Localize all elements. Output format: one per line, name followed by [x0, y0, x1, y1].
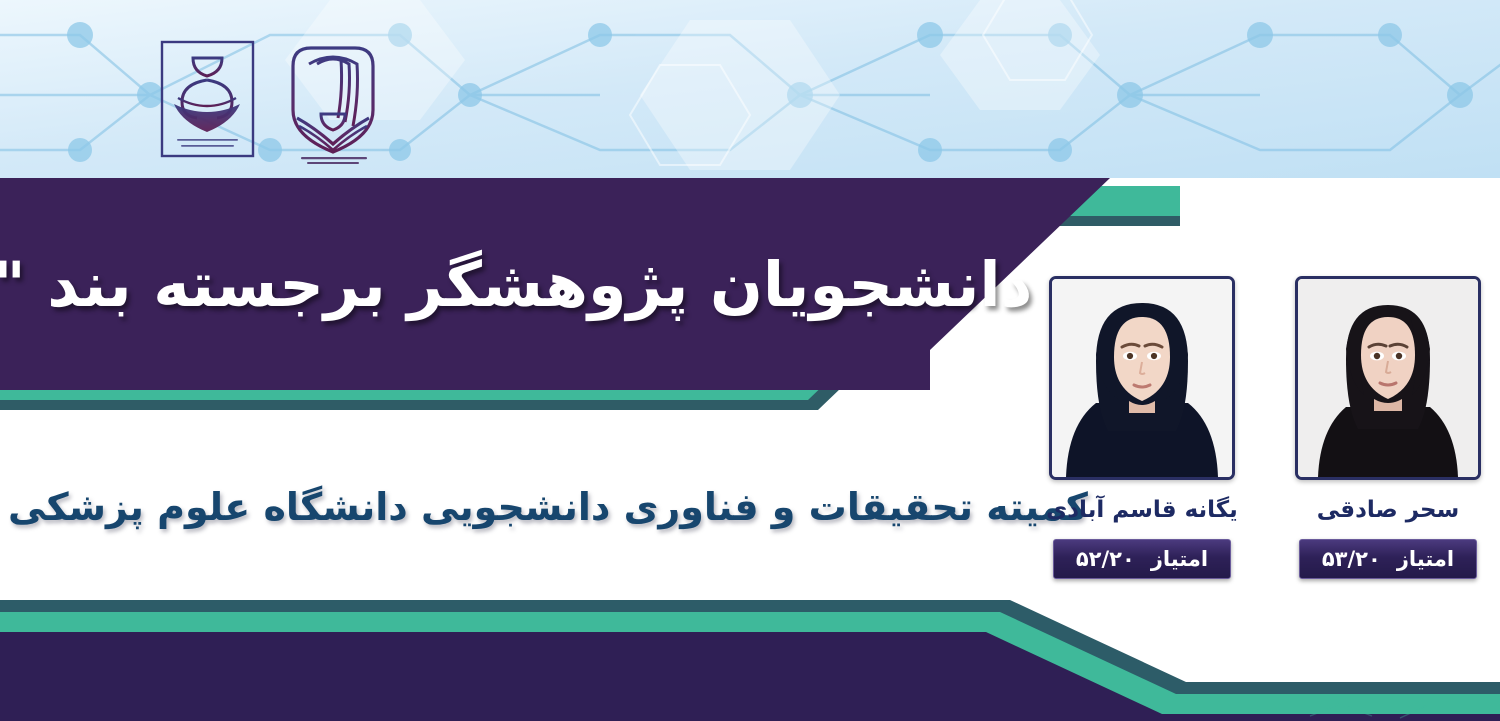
logo-group — [160, 40, 386, 168]
hero-banner — [0, 178, 1180, 458]
avatar — [1049, 276, 1235, 480]
subtitle-row: کمیته تحقیقات و فناوری دانشجویی دانشگاه … — [0, 472, 940, 542]
hero-banner-shape — [0, 178, 1180, 458]
status-badge: امتیاز ۵۲/۲۰ — [1053, 539, 1231, 579]
avatar — [1295, 276, 1481, 480]
poster-root: دانشجویان پژوهشگر برجسته بند "ک" کمیته ت… — [0, 0, 1500, 721]
portrait-photo-icon — [1298, 279, 1478, 477]
student-name: سحر صادقی — [1317, 497, 1460, 523]
subtitle-text: کمیته تحقیقات و فناوری دانشجویی دانشگاه … — [0, 485, 1088, 529]
header-band — [0, 0, 1500, 178]
student-card: سحر صادقی امتیاز ۵۳/۲۰ — [1294, 276, 1482, 579]
mashhad-university-of-medical-sciences-logo — [281, 40, 386, 168]
student-list: سحر صادقی امتیاز ۵۳/۲۰ — [1048, 276, 1482, 579]
score-value: ۵۲/۲۰ — [1076, 549, 1135, 570]
score-label: امتیاز — [1151, 549, 1208, 570]
student-name: یگانه قاسم آبادی — [1046, 497, 1238, 523]
footer-band — [0, 586, 1500, 721]
portrait-photo-icon — [1052, 279, 1232, 477]
score-label: امتیاز — [1397, 549, 1454, 570]
student-card: یگانه قاسم آبادی امتیاز ۵۲/۲۰ — [1048, 276, 1236, 579]
student-research-committee-logo — [160, 40, 255, 158]
status-badge: امتیاز ۵۳/۲۰ — [1299, 539, 1477, 579]
score-value: ۵۳/۲۰ — [1322, 549, 1381, 570]
